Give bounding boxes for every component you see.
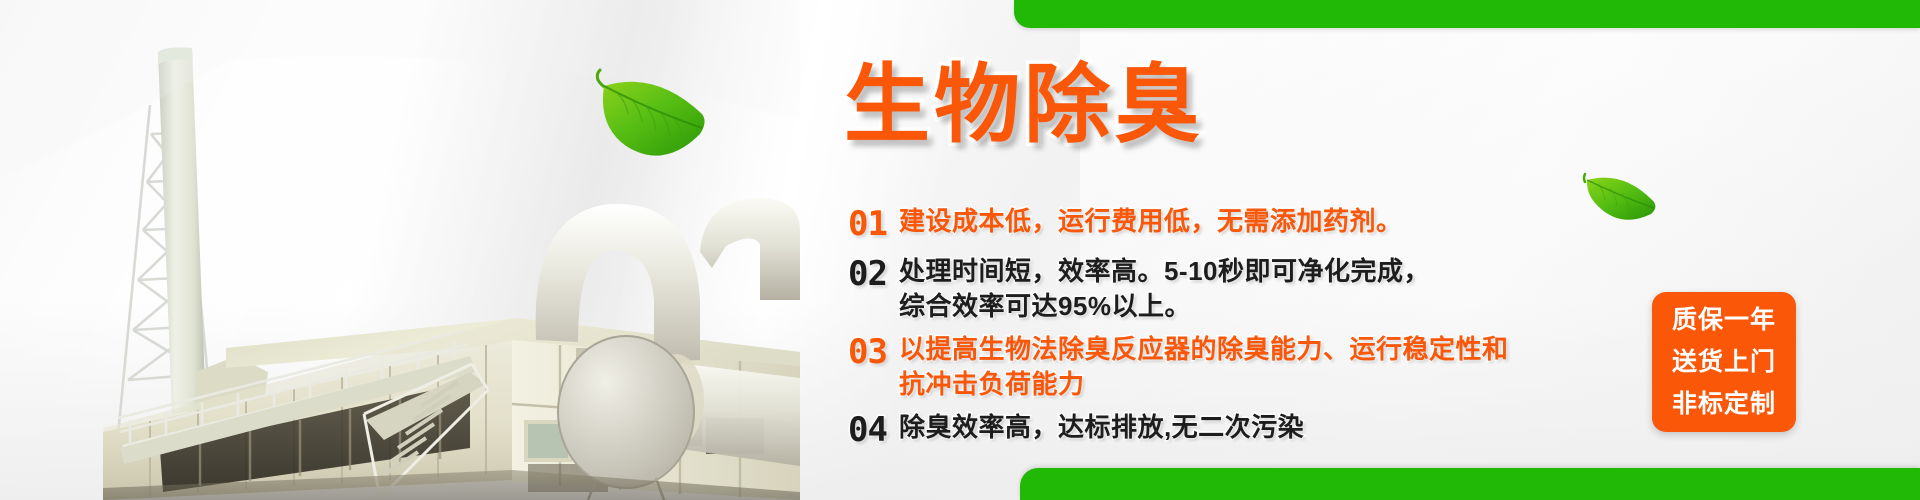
feature-line: 处理时间短，效率高。5-10秒即可净化完成， xyxy=(899,254,1430,289)
feature-text: 建设成本低，运行费用低，无需添加药剂。 xyxy=(899,204,1403,239)
feature-line: 除臭效率高，达标排放,无二次污染 xyxy=(899,410,1304,445)
feature-line: 抗冲击负荷能力 xyxy=(899,367,1509,402)
list-item: 01 建设成本低，运行费用低，无需添加药剂。 xyxy=(848,204,1608,244)
feature-number: 01 xyxy=(848,204,887,244)
feature-text: 处理时间短，效率高。5-10秒即可净化完成， 综合效率可达95%以上。 xyxy=(899,254,1430,324)
list-item: 03 以提高生物法除臭反应器的除臭能力、运行稳定性和 抗冲击负荷能力 xyxy=(848,332,1608,402)
feature-line: 综合效率可达95%以上。 xyxy=(899,289,1430,324)
list-item: 04 除臭效率高，达标排放,无二次污染 xyxy=(848,410,1608,450)
feature-number: 02 xyxy=(848,254,887,294)
badge-line: 非标定制 xyxy=(1672,383,1776,425)
list-item: 02 处理时间短，效率高。5-10秒即可净化完成， 综合效率可达95%以上。 xyxy=(848,254,1608,324)
feature-line: 以提高生物法除臭反应器的除臭能力、运行稳定性和 xyxy=(899,332,1509,367)
feature-line: 建设成本低，运行费用低，无需添加药剂。 xyxy=(899,204,1403,239)
feature-list: 01 建设成本低，运行费用低，无需添加药剂。 02 处理时间短，效率高。5-10… xyxy=(848,204,1608,460)
feature-number: 04 xyxy=(848,410,887,450)
leaf-icon xyxy=(568,52,718,180)
feature-number: 03 xyxy=(848,332,887,372)
badge-line: 质保一年 xyxy=(1672,299,1776,341)
promo-banner: 生物除臭 01 建设成本低，运行费用低，无需添加药剂。 02 处理时间短，效率高… xyxy=(0,0,1920,500)
guarantee-badge: 质保一年 送货上门 非标定制 xyxy=(1652,292,1796,432)
feature-text: 以提高生物法除臭反应器的除臭能力、运行稳定性和 抗冲击负荷能力 xyxy=(899,332,1509,402)
page-title: 生物除臭 xyxy=(844,62,1204,148)
green-bar-top xyxy=(1014,0,1920,28)
green-bar-bottom xyxy=(1020,468,1920,500)
badge-line: 送货上门 xyxy=(1672,341,1776,383)
feature-text: 除臭效率高，达标排放,无二次污染 xyxy=(899,410,1304,445)
